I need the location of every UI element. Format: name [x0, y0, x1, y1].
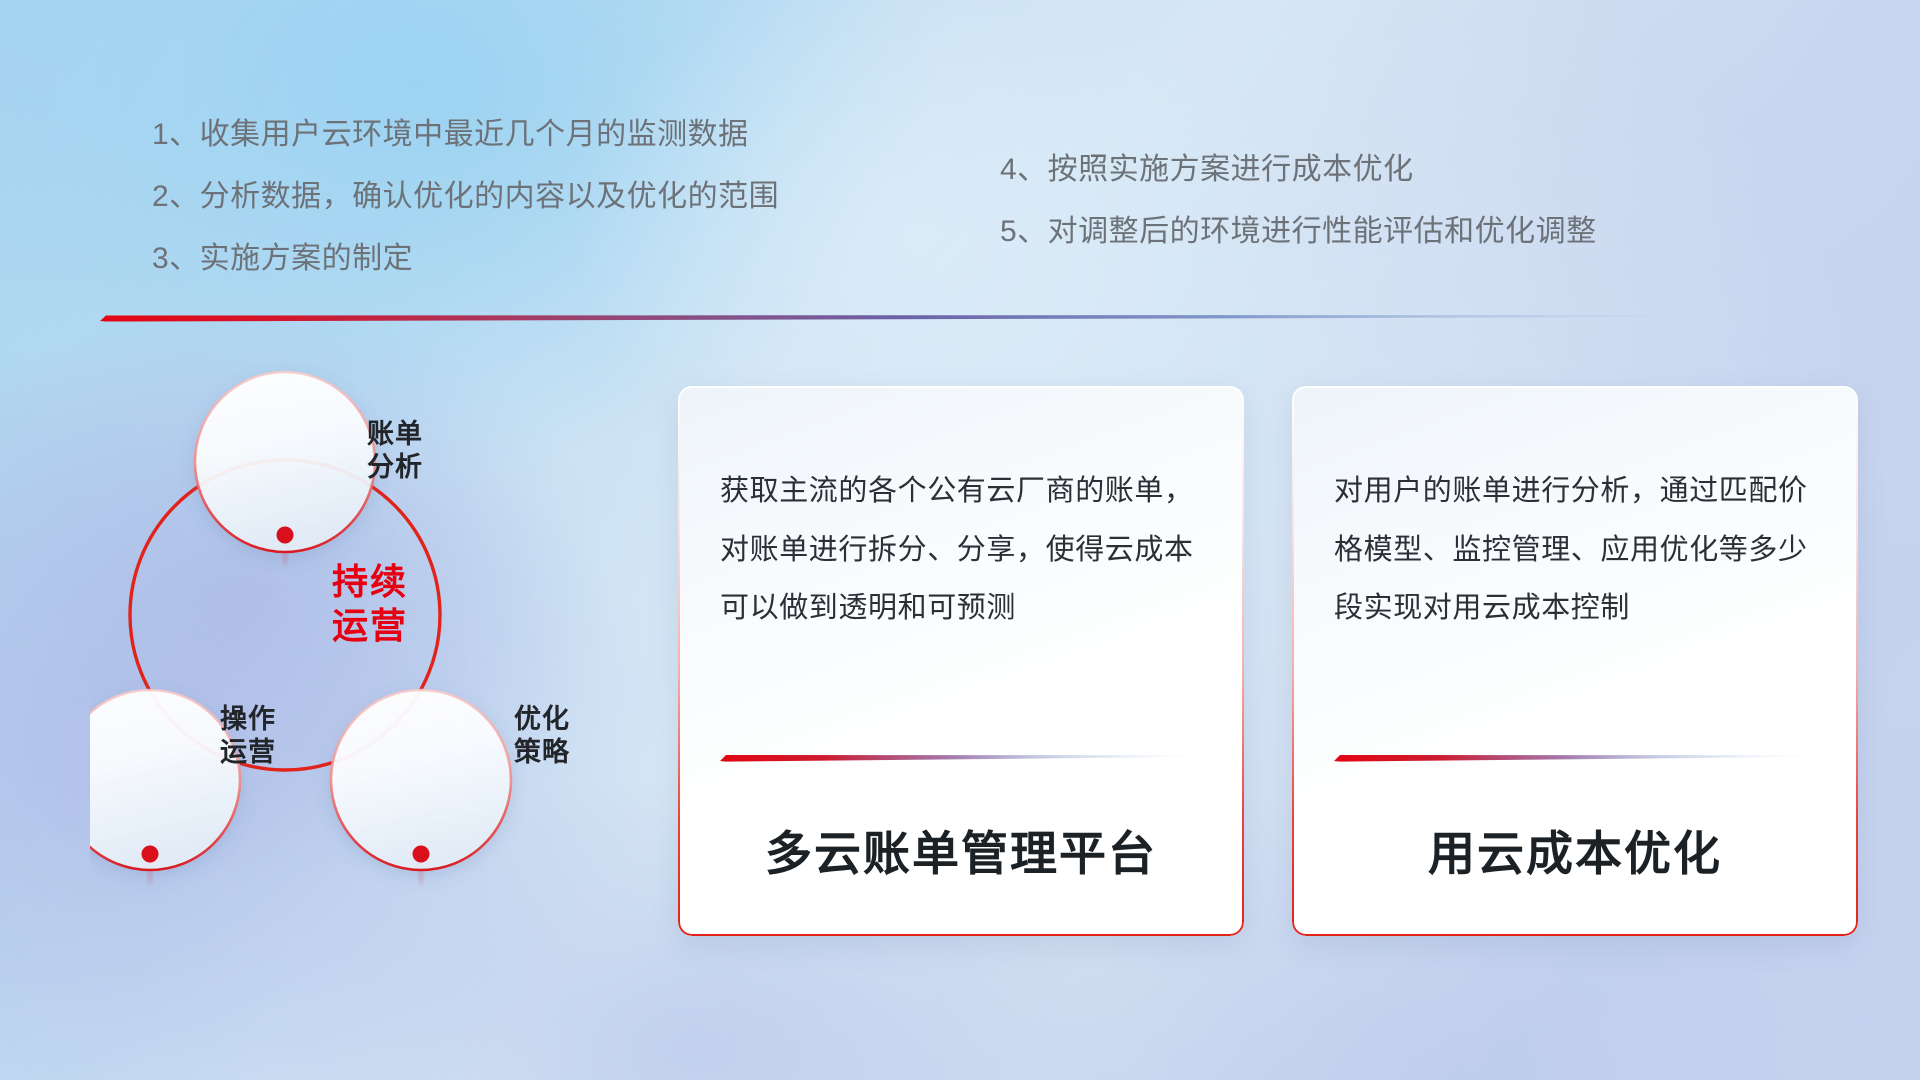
- node-label-ops-line1: 操作: [178, 703, 318, 736]
- card-1-accent-rule: [720, 750, 1196, 760]
- card-2-accent-rule: [1334, 750, 1810, 760]
- card-1-description: 获取主流的各个公有云厂商的账单，对账单进行拆分、分享，使得云成本可以做到透明和可…: [720, 462, 1202, 638]
- node-label-policy-line1: 优化: [472, 703, 612, 736]
- slide-canvas: 1、收集用户云环境中最近几个月的监测数据 2、分析数据，确认优化的内容以及优化的…: [0, 0, 1920, 1080]
- card-1-title: 多云账单管理平台: [678, 815, 1244, 884]
- card-1-body: 获取主流的各个公有云厂商的账单，对账单进行拆分、分享，使得云成本可以做到透明和可…: [678, 386, 1244, 638]
- node-label-policy: 优化 策略: [472, 703, 612, 769]
- anchor-dot-policy: [413, 846, 430, 863]
- card-2-description: 对用户的账单进行分析，通过匹配价格模型、监控管理、应用优化等多少段实现对用云成本…: [1334, 462, 1816, 638]
- node-label-billing: 账单 分析: [325, 418, 465, 484]
- anchor-dot-ops: [142, 846, 159, 863]
- center-label-line1: 持续: [270, 560, 470, 604]
- steps-left-column: 1、收集用户云环境中最近几个月的监测数据 2、分析数据，确认优化的内容以及优化的…: [152, 120, 779, 274]
- step-item-2: 2、分析数据，确认优化的内容以及优化的范围: [152, 182, 779, 212]
- diagram-center-label: 持续 运营: [270, 560, 470, 648]
- step-item-5: 5、对调整后的环境进行性能评估和优化调整: [1000, 217, 1597, 247]
- anchor-dot-billing: [277, 527, 294, 544]
- node-label-billing-line2: 分析: [325, 451, 465, 484]
- step-item-1: 1、收集用户云环境中最近几个月的监测数据: [152, 120, 779, 150]
- node-label-ops: 操作 运营: [178, 703, 318, 769]
- step-item-4: 4、按照实施方案进行成本优化: [1000, 155, 1597, 185]
- step-item-3: 3、实施方案的制定: [152, 244, 779, 274]
- steps-right-column: 4、按照实施方案进行成本优化 5、对调整后的环境进行性能评估和优化调整: [1000, 155, 1597, 247]
- continuous-operations-diagram: 账单 分析 操作 运营 优化 策略 持续 运营: [90, 340, 670, 960]
- node-label-policy-line2: 策略: [472, 736, 612, 769]
- node-label-billing-line1: 账单: [325, 418, 465, 451]
- card-2-title: 用云成本优化: [1292, 815, 1858, 884]
- center-label-line2: 运营: [270, 604, 470, 648]
- section-divider: [100, 310, 1700, 324]
- node-label-ops-line2: 运营: [178, 736, 318, 769]
- card-2-body: 对用户的账单进行分析，通过匹配价格模型、监控管理、应用优化等多少段实现对用云成本…: [1292, 386, 1858, 638]
- card-multi-cloud-billing-platform[interactable]: 获取主流的各个公有云厂商的账单，对账单进行拆分、分享，使得云成本可以做到透明和可…: [678, 386, 1244, 936]
- card-cloud-cost-optimization[interactable]: 对用户的账单进行分析，通过匹配价格模型、监控管理、应用优化等多少段实现对用云成本…: [1292, 386, 1858, 936]
